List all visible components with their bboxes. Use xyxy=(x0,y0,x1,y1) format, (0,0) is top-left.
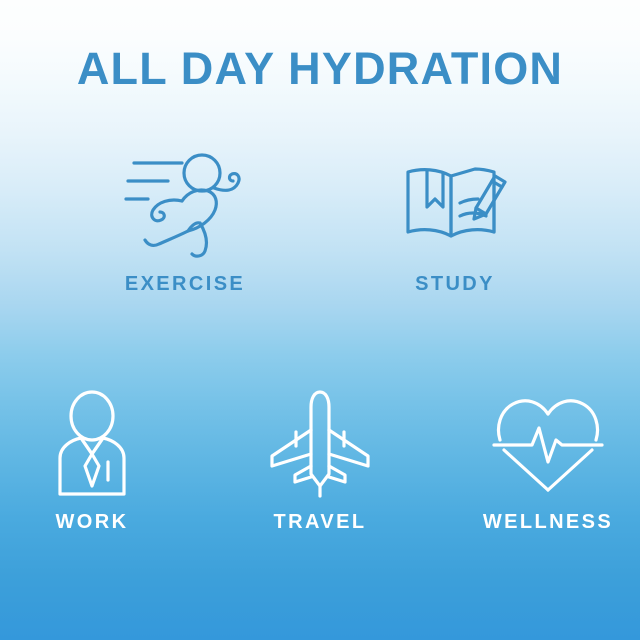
wellness-icon-box xyxy=(494,388,602,500)
feature-study[interactable]: STUDY xyxy=(375,150,535,294)
feature-label-work: WORK xyxy=(56,512,129,532)
open-book-pencil-icon xyxy=(400,150,510,262)
feature-label-travel: TRAVEL xyxy=(274,512,367,532)
feature-label-exercise: EXERCISE xyxy=(125,274,245,294)
heart-pulse-icon xyxy=(494,392,602,496)
travel-icon-box xyxy=(265,388,375,500)
feature-wellness[interactable]: WELLNESS xyxy=(468,388,628,532)
feature-label-wellness: WELLNESS xyxy=(483,512,613,532)
poster-canvas: ALL DAY HYDRATION xyxy=(0,0,640,640)
work-icon-box xyxy=(46,388,138,500)
running-person-icon xyxy=(126,150,244,262)
feature-row-top: EXERCISE xyxy=(0,150,640,294)
businessperson-icon xyxy=(46,390,138,498)
airplane-icon xyxy=(265,390,375,498)
feature-work[interactable]: WORK xyxy=(12,388,172,532)
study-icon-box xyxy=(400,150,510,262)
feature-travel[interactable]: TRAVEL xyxy=(240,388,400,532)
exercise-icon-box xyxy=(126,150,244,262)
feature-exercise[interactable]: EXERCISE xyxy=(105,150,265,294)
feature-row-bottom: WORK xyxy=(0,388,640,532)
page-title: ALL DAY HYDRATION xyxy=(0,46,640,91)
feature-label-study: STUDY xyxy=(415,274,495,294)
